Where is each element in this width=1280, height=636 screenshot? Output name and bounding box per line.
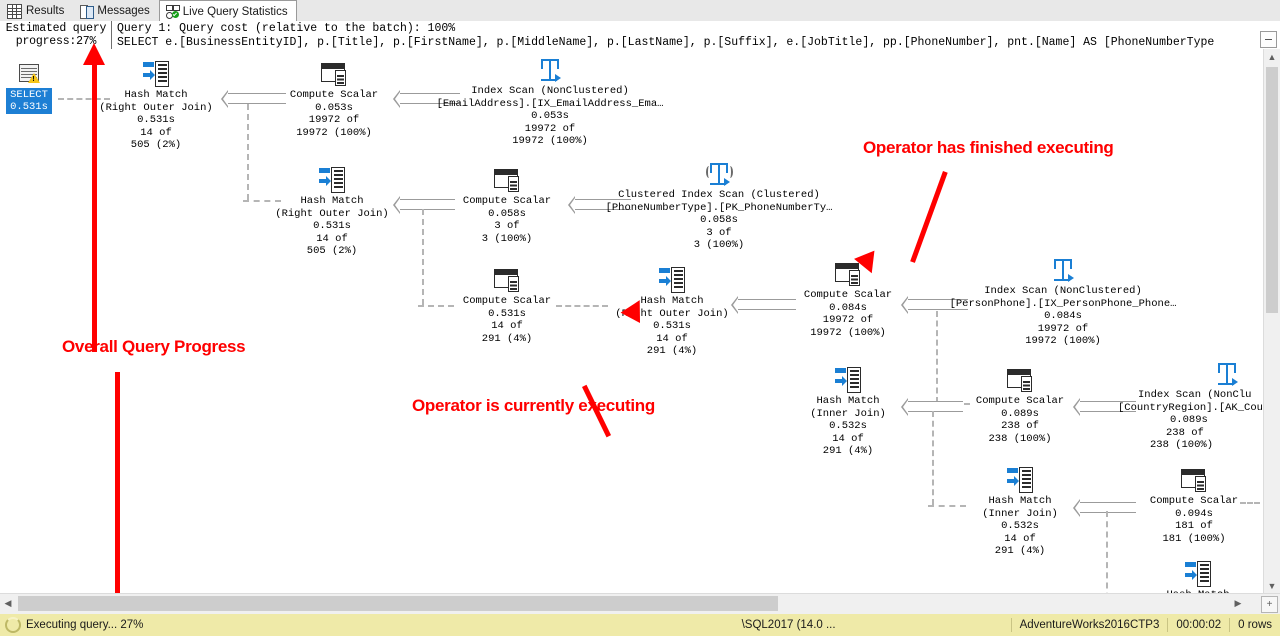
annotation-executing-label: Operator is currently executing [412, 396, 655, 416]
operator-node-clustered-index-scan-1[interactable]: Clustered Index Scan (Clustered) [PhoneN… [590, 161, 848, 252]
operator-node-hash-match-6[interactable]: Hash Match [1140, 561, 1256, 594]
operator-rows: 14 of [612, 333, 732, 346]
operator-rows: 19972 of [420, 123, 680, 136]
tab-results[interactable]: Results [0, 0, 73, 21]
operator-rows: 14 of [962, 533, 1078, 546]
tab-messages-label: Messages [97, 5, 149, 17]
grid-icon [7, 4, 22, 19]
operator-time: 0.094s [1142, 508, 1246, 521]
hash-match-icon [319, 167, 345, 193]
spinner-icon [5, 617, 21, 633]
operator-time: 0.058s [455, 208, 559, 221]
operator-node-compute-scalar-1[interactable]: Compute Scalar 0.053s 19972 of 19972 (10… [282, 61, 386, 139]
annotation-overall-progress-label: Overall Query Progress [62, 337, 245, 357]
operator-rows: 3 of [590, 227, 848, 240]
horizontal-scrollbar[interactable]: ◀ ▶ + [0, 593, 1280, 614]
messages-icon [80, 5, 93, 18]
operator-time: 0.531s [455, 308, 559, 321]
operator-node-index-scan-3[interactable]: Index Scan (NonClu [CountryRegion].[AK_C… [1118, 361, 1264, 452]
index-scan-icon [1050, 257, 1076, 283]
annotation-progress-arrow-up-head [83, 43, 105, 65]
operator-node-hash-match-4[interactable]: Hash Match (Inner Join) 0.532s 14 of 291… [790, 367, 906, 458]
operator-node-hash-match-1[interactable]: Hash Match (Right Outer Join) 0.531s 14 … [96, 61, 216, 152]
operator-title: Compute Scalar [796, 289, 900, 302]
operator-time: 0.531s [272, 220, 392, 233]
select-node[interactable]: SELECT 0.531s [6, 64, 52, 114]
operator-subtitle: [PhoneNumberType].[PK_PhoneNumberTy… [590, 202, 848, 215]
connector [1080, 502, 1136, 513]
hash-match-icon [143, 61, 169, 87]
operator-node-compute-scalar-4[interactable]: Compute Scalar 0.084s 19972 of 19972 (10… [796, 261, 900, 339]
operator-node-hash-match-5[interactable]: Hash Match (Inner Join) 0.532s 14 of 291… [962, 467, 1078, 558]
select-node-label: SELECT [10, 89, 48, 101]
operator-rows: 238 of [968, 420, 1072, 433]
operator-total: 505 (2%) [272, 245, 392, 258]
connector [556, 305, 608, 307]
compute-scalar-icon [494, 267, 520, 293]
operator-total: 291 (4%) [612, 345, 732, 358]
operator-time: 0.053s [420, 110, 680, 123]
tab-results-label: Results [26, 5, 64, 17]
operator-title: Hash Match [790, 395, 906, 408]
status-server: \SQL2017 (14.0 ... [734, 618, 844, 632]
operator-total: 19972 (100%) [934, 335, 1192, 348]
connector [908, 401, 963, 412]
operator-subtitle: [CountryRegion].[AK_Cou [1118, 402, 1264, 415]
estimated-query-progress-line1: Estimated query [6, 22, 107, 35]
annotation-progress-arrow-down-shaft [115, 372, 120, 604]
operator-total: 19972 (100%) [420, 135, 680, 148]
operator-node-hash-match-2[interactable]: Hash Match (Right Outer Join) 0.531s 14 … [272, 167, 392, 258]
compute-scalar-icon [1181, 467, 1207, 493]
operator-total: 3 (100%) [590, 239, 848, 252]
plan-zoom-icon[interactable]: + [1261, 596, 1278, 613]
operator-time: 0.084s [796, 302, 900, 315]
query-plan-header: Estimated query progress:27% Query 1: Qu… [0, 21, 1280, 50]
operator-total: 505 (2%) [96, 139, 216, 152]
operator-time: 0.053s [282, 102, 386, 115]
operator-total: 238 (100%) [1150, 439, 1264, 452]
operator-time: 0.089s [968, 408, 1072, 421]
select-node-cost: 0.531s [10, 101, 48, 113]
status-rows: 0 rows [1229, 618, 1280, 632]
scroll-left-icon[interactable]: ◀ [0, 594, 16, 613]
operator-time: 0.058s [590, 214, 848, 227]
operator-rows: 19972 of [282, 114, 386, 127]
vertical-scroll-thumb[interactable] [1266, 67, 1278, 313]
operator-rows: 14 of [272, 233, 392, 246]
operator-time: 0.089s [1170, 414, 1264, 427]
operator-rows: 19972 of [796, 314, 900, 327]
operator-title: Index Scan (NonClustered) [420, 85, 680, 98]
operator-time: 0.532s [962, 520, 1078, 533]
operator-total: 291 (4%) [790, 445, 906, 458]
operator-title: Index Scan (NonClu [1138, 389, 1264, 402]
results-tab-strip: Results Messages Live Query Statistics [0, 0, 1280, 22]
scroll-right-icon[interactable]: ▶ [1230, 594, 1246, 613]
index-scan-icon [1214, 361, 1240, 387]
operator-subtitle: [EmailAddress].[IX_EmailAddress_Ema… [420, 98, 680, 111]
operator-node-compute-scalar-5[interactable]: Compute Scalar 0.089s 238 of 238 (100%) [968, 367, 1072, 445]
status-database: AdventureWorks2016CTP3 [1011, 618, 1168, 632]
hash-match-icon [1185, 561, 1211, 587]
operator-title: Index Scan (NonClustered) [934, 285, 1192, 298]
vertical-scrollbar[interactable]: ▲ ▼ [1263, 49, 1280, 594]
query-plan-canvas[interactable]: SELECT 0.531s Hash Match (Right Outer Jo… [0, 49, 1264, 594]
status-execution: Executing query... 27% [0, 617, 734, 633]
status-execution-text: Executing query... 27% [26, 619, 143, 631]
operator-title: Hash Match [96, 89, 216, 102]
operator-total: 19972 (100%) [282, 127, 386, 140]
operator-rows: 238 of [1166, 427, 1264, 440]
compute-scalar-icon [494, 167, 520, 193]
operator-total: 19972 (100%) [796, 327, 900, 340]
operator-node-compute-scalar-2[interactable]: Compute Scalar 0.058s 3 of 3 (100%) [455, 167, 559, 245]
operator-rows: 3 of [455, 220, 559, 233]
live-query-statistics-icon [166, 5, 179, 18]
tab-live-query-statistics[interactable]: Live Query Statistics [159, 0, 297, 22]
connector [932, 411, 934, 505]
tab-messages[interactable]: Messages [73, 0, 158, 21]
operator-time: 0.532s [790, 420, 906, 433]
operator-total: 291 (4%) [455, 333, 559, 346]
operator-title: Hash Match [272, 195, 392, 208]
annotation-finished-line [910, 171, 948, 263]
operator-total: 3 (100%) [455, 233, 559, 246]
operator-rows: 19972 of [934, 323, 1192, 336]
operator-total: 181 (100%) [1142, 533, 1246, 546]
hash-match-icon [835, 367, 861, 393]
warning-icon [28, 73, 40, 83]
connector [228, 93, 286, 104]
operator-time: 0.531s [96, 114, 216, 127]
query-sql-line: SELECT e.[BusinessEntityID], p.[Title], … [117, 36, 1280, 50]
operator-title: Compute Scalar [1142, 495, 1246, 508]
connector [418, 305, 454, 307]
operator-title: Compute Scalar [455, 195, 559, 208]
clustered-index-scan-icon [706, 161, 732, 187]
operator-rows: 14 of [790, 433, 906, 446]
operator-rows: 181 of [1142, 520, 1246, 533]
operator-title: Clustered Index Scan (Clustered) [590, 189, 848, 202]
hash-match-icon [659, 267, 685, 293]
tab-live-query-statistics-label: Live Query Statistics [183, 6, 288, 18]
operator-title: Compute Scalar [282, 89, 386, 102]
operator-node-compute-scalar-6[interactable]: Compute Scalar 0.094s 181 of 181 (100%) [1142, 467, 1246, 545]
connector [247, 104, 249, 200]
compute-scalar-icon [321, 61, 347, 87]
operator-time: 0.084s [934, 310, 1192, 323]
operator-total: 238 (100%) [968, 433, 1072, 446]
operator-node-compute-scalar-3[interactable]: Compute Scalar 0.531s 14 of 291 (4%) [455, 267, 559, 345]
select-icon [16, 64, 42, 88]
operator-rows: 14 of [96, 127, 216, 140]
index-scan-icon [537, 57, 563, 83]
annotation-finished-label: Operator has finished executing [863, 138, 1113, 158]
query-cost-text: Query 1: Query cost (relative to the bat… [112, 21, 1280, 49]
status-right-group: \SQL2017 (14.0 ... AdventureWorks2016CTP… [734, 618, 1280, 632]
operator-subtitle: [PersonPhone].[IX_PersonPhone_Phone… [934, 298, 1192, 311]
status-bar: Executing query... 27% \SQL2017 (14.0 ..… [0, 614, 1280, 636]
hash-match-icon [1007, 467, 1033, 493]
operator-subtitle: (Inner Join) [962, 508, 1078, 521]
connector [1106, 511, 1108, 594]
connector [928, 505, 966, 507]
collapse-icon[interactable] [1260, 31, 1277, 48]
operator-node-index-scan-2[interactable]: Index Scan (NonClustered) [PersonPhone].… [934, 257, 1192, 348]
scroll-up-icon[interactable]: ▲ [1264, 49, 1280, 65]
connector [422, 209, 424, 305]
connector [738, 299, 796, 310]
horizontal-scroll-thumb[interactable] [18, 596, 778, 611]
operator-title: Hash Match [962, 495, 1078, 508]
operator-rows: 14 of [455, 320, 559, 333]
operator-subtitle: (Right Outer Join) [272, 208, 392, 221]
connector [400, 199, 455, 210]
compute-scalar-icon [1007, 367, 1033, 393]
operator-node-index-scan-1[interactable]: Index Scan (NonClustered) [EmailAddress]… [420, 57, 680, 148]
query-cost-line: Query 1: Query cost (relative to the bat… [117, 22, 1280, 36]
operator-title: Compute Scalar [968, 395, 1072, 408]
scroll-down-icon[interactable]: ▼ [1264, 578, 1280, 594]
annotation-progress-arrow-up-shaft [92, 62, 97, 352]
operator-time: 0.531s [612, 320, 732, 333]
operator-title: Compute Scalar [455, 295, 559, 308]
status-elapsed: 00:00:02 [1167, 618, 1229, 632]
operator-subtitle: (Inner Join) [790, 408, 906, 421]
operator-total: 291 (4%) [962, 545, 1078, 558]
operator-subtitle: (Right Outer Join) [96, 102, 216, 115]
